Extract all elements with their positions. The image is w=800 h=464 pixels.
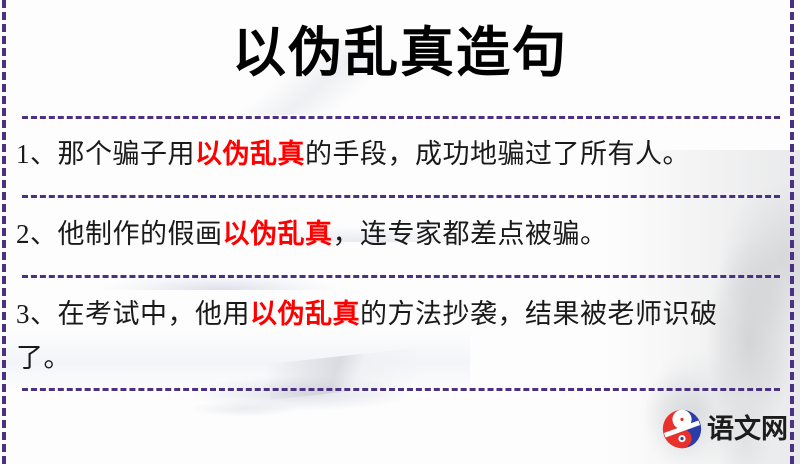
- example-sentence-2: 2、他制作的假画以伪乱真，连专家都差点被骗。: [16, 212, 764, 256]
- example-sentence-1: 1、那个骗子用以伪乱真的手段，成功地骗过了所有人。: [16, 132, 764, 176]
- sentence-2-before: 他制作的假画: [58, 219, 223, 249]
- sentence-2-after: ，连专家都差点被骗。: [333, 219, 608, 249]
- slide-canvas: 以伪乱真造句 1、那个骗子用以伪乱真的手段，成功地骗过了所有人。 2、他制作的假…: [0, 0, 800, 464]
- sentence-1-before: 那个骗子用: [58, 139, 196, 169]
- sentence-3-index: 3、: [16, 299, 58, 329]
- divider-rule-3: [22, 275, 780, 278]
- example-sentence-3: 3、在考试中，他用以伪乱真的方法抄袭，结果被老师识破了。: [16, 292, 764, 380]
- page-title: 以伪乱真造句: [0, 22, 800, 84]
- sentence-1-after: 的手段，成功地骗过了所有人。: [305, 139, 690, 169]
- site-logo-text: 语文网: [707, 416, 788, 443]
- divider-rule-1: [22, 116, 780, 119]
- sentence-2-keyword: 以伪乱真: [223, 219, 333, 249]
- divider-rule-2: [22, 195, 780, 198]
- sentence-1-keyword: 以伪乱真: [195, 139, 305, 169]
- frame-border-left: [2, 0, 6, 464]
- sentence-1-index: 1、: [16, 139, 58, 169]
- frame-border-right: [790, 0, 794, 464]
- sentence-2-index: 2、: [16, 219, 58, 249]
- sentence-3-keyword: 以伪乱真: [250, 299, 360, 329]
- site-logo[interactable]: 语文网: [662, 409, 788, 449]
- yin-yang-logo-icon: [662, 409, 702, 449]
- sentence-3-before: 在考试中，他用: [58, 299, 251, 329]
- divider-rule-4: [22, 388, 780, 391]
